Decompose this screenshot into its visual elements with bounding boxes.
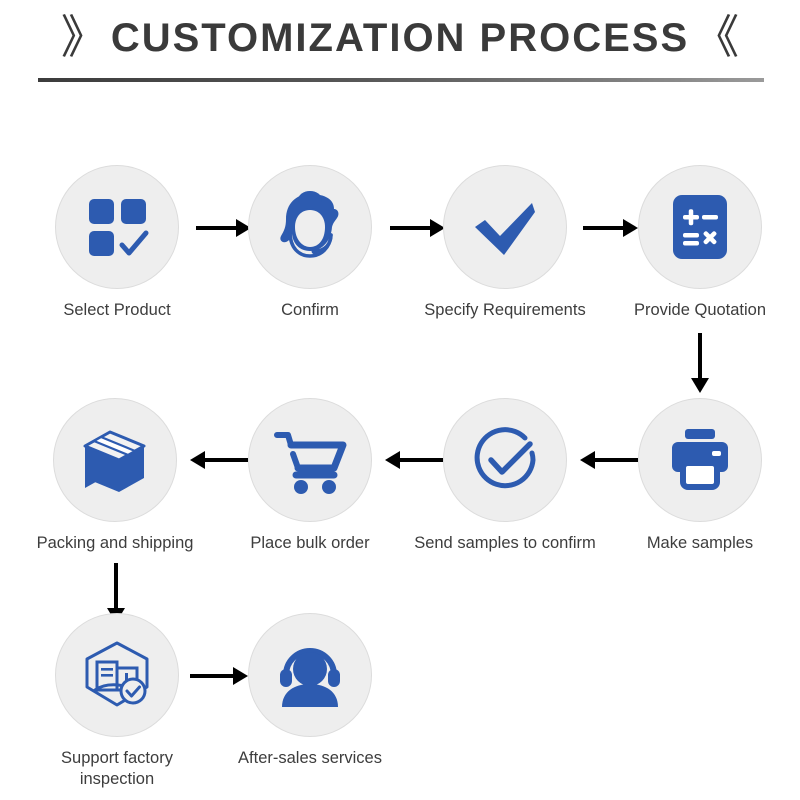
step-label: Place bulk order — [215, 533, 405, 554]
chevron-right-icon: 《 — [693, 11, 739, 63]
step-select-product[interactable]: Select Product — [22, 165, 212, 321]
step-icon-circle — [53, 398, 177, 522]
step-place-bulk-order[interactable]: Place bulk order — [215, 398, 405, 554]
step-icon-circle — [248, 398, 372, 522]
step-provide-quotation[interactable]: Provide Quotation — [605, 165, 795, 321]
step-label: Confirm — [215, 300, 405, 321]
step-icon-circle — [248, 165, 372, 289]
step-icon-circle — [443, 398, 567, 522]
step-confirm[interactable]: Confirm — [215, 165, 405, 321]
step-label: Packing and shipping — [20, 533, 210, 554]
step-support-factory-inspection[interactable]: Support factory inspection — [22, 613, 212, 790]
step-icon-circle — [638, 165, 762, 289]
page-title-text: CUSTOMIZATION PROCESS — [111, 16, 689, 60]
step-icon-circle — [248, 613, 372, 737]
step-label: Make samples — [605, 533, 795, 554]
factory-inspection-shield-icon — [79, 637, 155, 713]
calculator-icon — [664, 191, 736, 263]
printer-icon — [663, 423, 737, 497]
chevron-left-icon: 》 — [61, 11, 107, 63]
step-label: Select Product — [22, 300, 212, 321]
circle-check-icon — [467, 422, 543, 498]
title-divider — [38, 78, 764, 82]
step-specify-requirements[interactable]: Specify Requirements — [410, 165, 600, 321]
step-icon-circle — [443, 165, 567, 289]
step-after-sales-services[interactable]: After-sales services — [215, 613, 405, 769]
step-label: Support factory inspection — [22, 748, 212, 790]
step-icon-circle — [55, 165, 179, 289]
step-label: Send samples to confirm — [410, 533, 600, 554]
step-label: Specify Requirements — [410, 300, 600, 321]
page-title: 》CUSTOMIZATION PROCESS《 — [0, 6, 800, 69]
shopping-cart-icon — [272, 422, 348, 498]
checkmark-icon — [467, 189, 543, 265]
arrow-row1-to-row2 — [690, 333, 710, 393]
support-agent-icon — [271, 188, 349, 266]
step-send-samples-to-confirm[interactable]: Send samples to confirm — [410, 398, 600, 554]
step-label: Provide Quotation — [605, 300, 795, 321]
step-icon-circle — [55, 613, 179, 737]
headset-person-icon — [272, 637, 348, 713]
grid-check-icon — [81, 191, 153, 263]
package-box-icon — [77, 422, 153, 498]
step-packing-and-shipping[interactable]: Packing and shipping — [20, 398, 210, 554]
step-label: After-sales services — [215, 748, 405, 769]
step-make-samples[interactable]: Make samples — [605, 398, 795, 554]
step-icon-circle — [638, 398, 762, 522]
